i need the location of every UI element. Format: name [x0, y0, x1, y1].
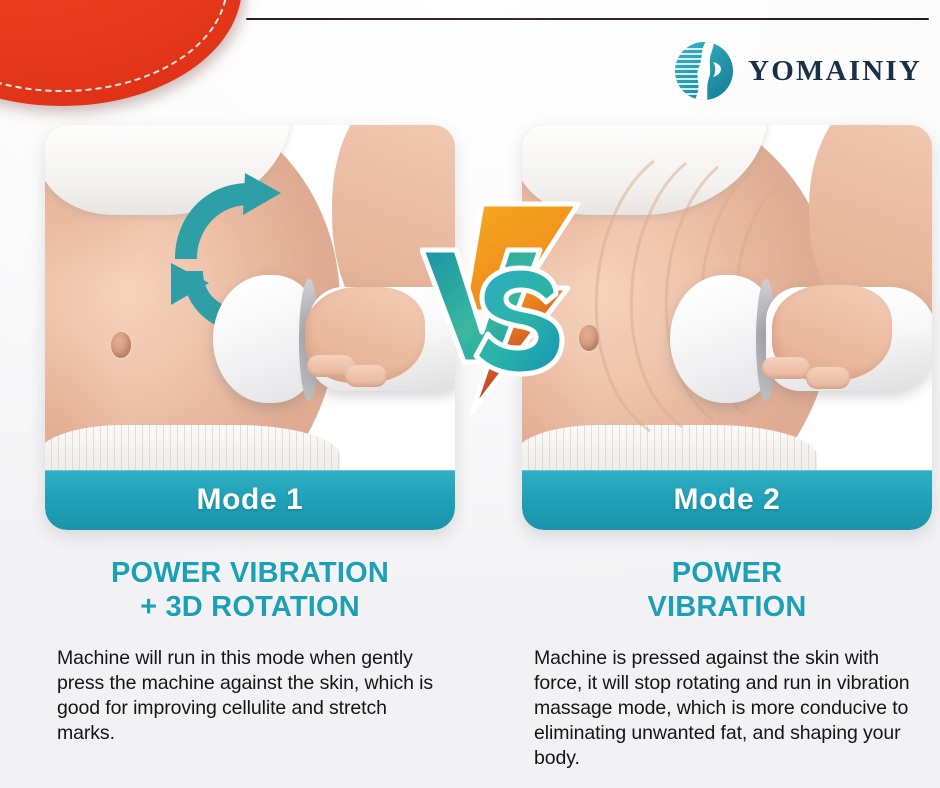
badge-dashed-border — [0, 0, 228, 92]
mode-1-description: Machine will run in this mode when gentl… — [45, 646, 455, 746]
mode-2-text-block: POWER VIBRATION Machine is pressed again… — [522, 556, 932, 771]
brand-name: YOMAINIY — [748, 55, 922, 88]
navel-detail — [111, 332, 131, 358]
red-badge-shape-icon — [0, 0, 242, 106]
mode-1-headline-line1: POWER VIBRATION — [45, 556, 455, 590]
brand-logo: YOMAINIY — [673, 40, 922, 102]
top-divider-rule — [246, 18, 929, 20]
mode-2-label: Mode 2 — [674, 483, 781, 517]
massage-device-rotation-photo — [45, 125, 455, 470]
mode-1-card[interactable]: Mode 1 — [45, 125, 455, 530]
finger-illustration — [762, 357, 810, 379]
finger-illustration — [345, 365, 387, 387]
mode-2-banner: Mode 2 — [522, 470, 932, 530]
mode-1-headline: POWER VIBRATION + 3D ROTATION — [45, 556, 455, 624]
mode-1-label: Mode 1 — [197, 483, 304, 517]
mode-1-text-block: POWER VIBRATION + 3D ROTATION Machine wi… — [45, 556, 455, 746]
finger-illustration — [806, 367, 850, 389]
corner-badge — [0, 0, 242, 106]
mode-2-description: Machine is pressed against the skin with… — [522, 646, 932, 771]
vs-emblem — [420, 192, 595, 420]
waistband-garment — [45, 425, 340, 470]
mode-1-banner: Mode 1 — [45, 470, 455, 530]
mode-1-headline-line2: + 3D ROTATION — [45, 590, 455, 624]
mode-2-headline-line1: POWER — [522, 556, 932, 590]
mode-2-headline-line2: VIBRATION — [522, 590, 932, 624]
mode-2-headline: POWER VIBRATION — [522, 556, 932, 624]
torso-globe-logo-icon — [673, 40, 735, 102]
